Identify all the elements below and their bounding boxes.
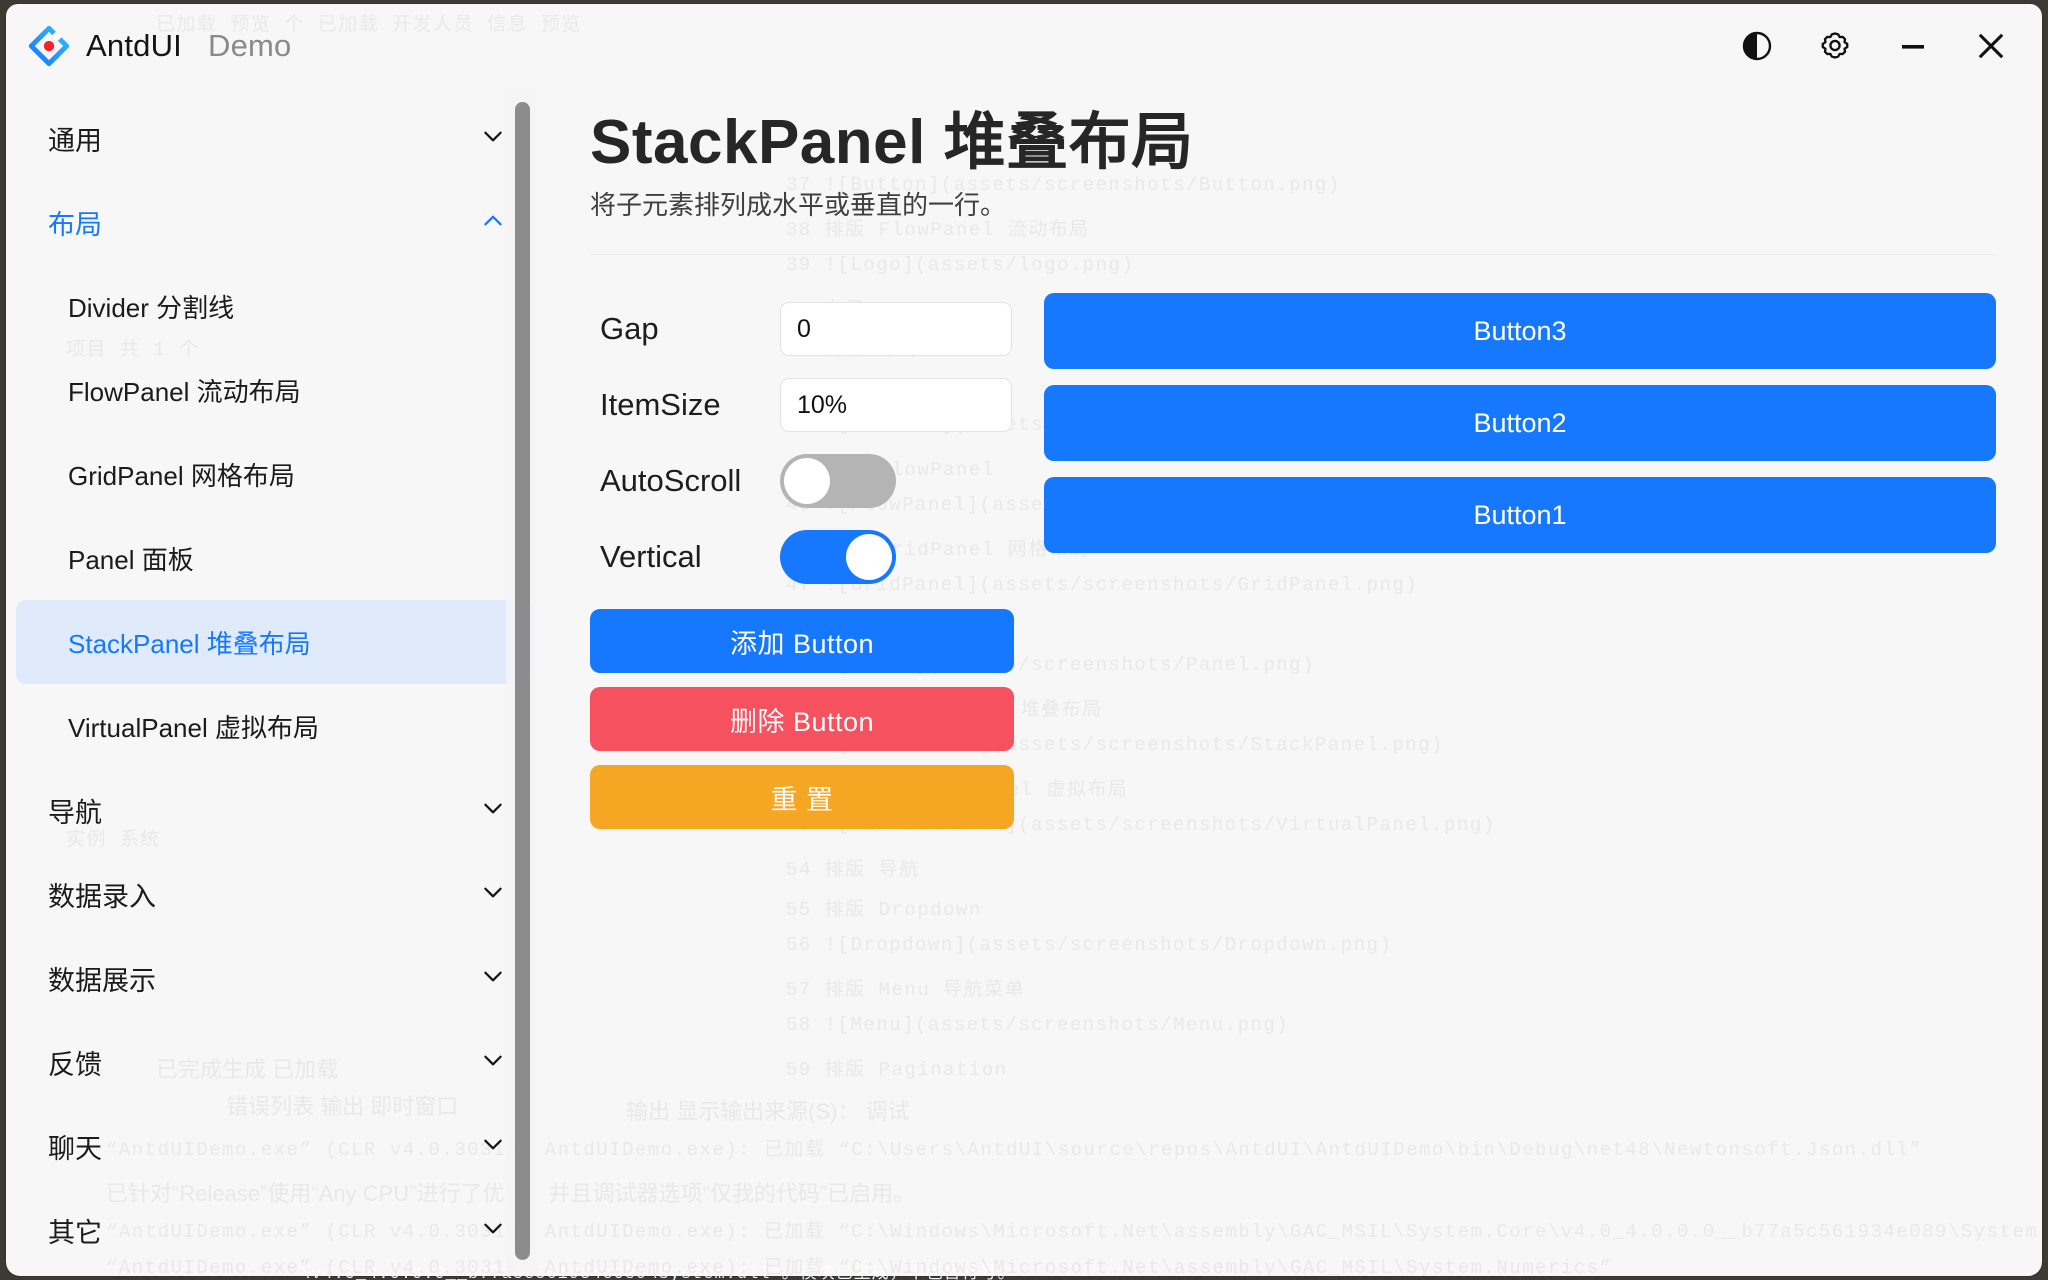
sidebar-group-general[interactable]: 通用	[16, 96, 534, 180]
sidebar-group-label: 数据展示	[48, 959, 480, 998]
close-icon	[1972, 27, 2010, 65]
chevron-down-icon	[480, 879, 506, 910]
sidebar-item-label: FlowPanel 流动布局	[68, 372, 301, 409]
sidebar-group-label: 通用	[48, 119, 480, 158]
sidebar-item-divider[interactable]: Divider 分割线	[16, 264, 534, 348]
sidebar-group-label: 反馈	[48, 1043, 480, 1082]
vertical-toggle[interactable]	[780, 530, 896, 584]
sidebar-group-label: 导航	[48, 791, 480, 830]
chevron-down-icon	[480, 795, 506, 826]
minimize-button[interactable]	[1874, 15, 1952, 77]
sidebar-group-data-display[interactable]: 数据展示	[16, 936, 534, 1020]
stack-item-button1[interactable]: Button1	[1044, 477, 1996, 553]
sidebar-scrollbar-thumb[interactable]	[515, 102, 530, 1260]
app-brand: AntdUI Demo	[6, 25, 291, 67]
sidebar-item-label: GridPanel 网格布局	[68, 456, 295, 493]
sidebar-item-panel[interactable]: Panel 面板	[16, 516, 534, 600]
sidebar-scrollbar-track[interactable]	[506, 88, 538, 1276]
header-divider	[590, 254, 1996, 255]
sidebar-group-chat[interactable]: 聊天	[16, 1104, 534, 1188]
chevron-up-icon	[480, 207, 506, 238]
sidebar-item-label: VirtualPanel 虚拟布局	[68, 708, 319, 745]
sidebar-group-label: 其它	[48, 1211, 480, 1250]
sidebar-group-label: 聊天	[48, 1127, 480, 1166]
control-row-autoscroll: AutoScroll	[590, 443, 1020, 519]
minimize-icon	[1896, 29, 1930, 63]
control-row-vertical: Vertical	[590, 519, 1020, 595]
chevron-down-icon	[480, 1215, 506, 1246]
controls-column: Gap ItemSize AutoScroll Vert	[590, 291, 1020, 829]
chevron-down-icon	[480, 1047, 506, 1078]
remove-button-button[interactable]: 删除 Button	[590, 687, 1014, 751]
page-title: StackPanel 堆叠布局	[590, 88, 1996, 179]
sidebar-item-label: Divider 分割线	[68, 288, 234, 325]
chevron-down-icon	[480, 963, 506, 994]
sidebar-group-layout[interactable]: 布局	[16, 180, 534, 264]
page-subtitle: 将子元素排列成水平或垂直的一行。	[590, 185, 1996, 222]
window-controls	[1718, 15, 2042, 77]
app-title: AntdUI	[86, 28, 182, 64]
close-button[interactable]	[1952, 15, 2030, 77]
sidebar-group-data-entry[interactable]: 数据录入	[16, 852, 534, 936]
stack-item-button3[interactable]: Button3	[1044, 293, 1996, 369]
vertical-label: Vertical	[590, 539, 780, 575]
sidebar-group-navigation[interactable]: 导航	[16, 768, 534, 852]
demo-area: Gap ItemSize AutoScroll Vert	[590, 291, 1996, 829]
antd-logo-icon	[28, 25, 70, 67]
sidebar-item-virtualpanel[interactable]: VirtualPanel 虚拟布局	[16, 684, 534, 768]
itemsize-label: ItemSize	[590, 387, 780, 423]
sidebar-group-others[interactable]: 其它	[16, 1188, 534, 1272]
reset-button[interactable]: 重 置	[590, 765, 1014, 829]
gear-icon	[1818, 29, 1852, 63]
gap-input[interactable]	[780, 302, 1012, 356]
itemsize-input[interactable]	[780, 378, 1012, 432]
sidebar-group-feedback[interactable]: 反馈	[16, 1020, 534, 1104]
app-window: 已加载 预览 个 已加载 开发人员 信息 预览 37 ![Button](ass…	[6, 4, 2042, 1276]
chevron-down-icon	[480, 1131, 506, 1162]
stackpanel-preview: Button3 Button2 Button1	[1044, 291, 1996, 829]
autoscroll-toggle[interactable]	[780, 454, 896, 508]
toggle-knob	[784, 458, 830, 504]
gap-label: Gap	[590, 311, 780, 347]
sidebar-item-gridpanel[interactable]: GridPanel 网格布局	[16, 432, 534, 516]
sidebar-item-label: Panel 面板	[68, 540, 194, 577]
chevron-down-icon	[480, 123, 506, 154]
sidebar-item-stackpanel[interactable]: StackPanel 堆叠布局	[16, 600, 534, 684]
stack-item-button2[interactable]: Button2	[1044, 385, 1996, 461]
window-body: 通用 布局 Divider 分割线 FlowPanel 流动布局 GridPan…	[6, 88, 2042, 1276]
add-button-button[interactable]: 添加 Button	[590, 609, 1014, 673]
theme-toggle-button[interactable]	[1718, 15, 1796, 77]
toggle-knob	[846, 534, 892, 580]
control-row-gap: Gap	[590, 291, 1020, 367]
settings-button[interactable]	[1796, 15, 1874, 77]
theme-contrast-icon	[1741, 30, 1773, 62]
autoscroll-label: AutoScroll	[590, 463, 780, 499]
sidebar-item-flowpanel[interactable]: FlowPanel 流动布局	[16, 348, 534, 432]
app-subtitle: Demo	[208, 28, 292, 64]
title-bar: AntdUI Demo	[6, 4, 2042, 88]
action-button-group: 添加 Button 删除 Button 重 置	[590, 609, 1020, 829]
control-row-itemsize: ItemSize	[590, 367, 1020, 443]
sidebar-group-label: 数据录入	[48, 875, 480, 914]
main-content: StackPanel 堆叠布局 将子元素排列成水平或垂直的一行。 Gap Ite…	[544, 88, 2042, 1276]
sidebar-nav: 通用 布局 Divider 分割线 FlowPanel 流动布局 GridPan…	[6, 88, 544, 1276]
sidebar-item-label: StackPanel 堆叠布局	[68, 624, 311, 661]
sidebar-group-label: 布局	[48, 203, 480, 242]
